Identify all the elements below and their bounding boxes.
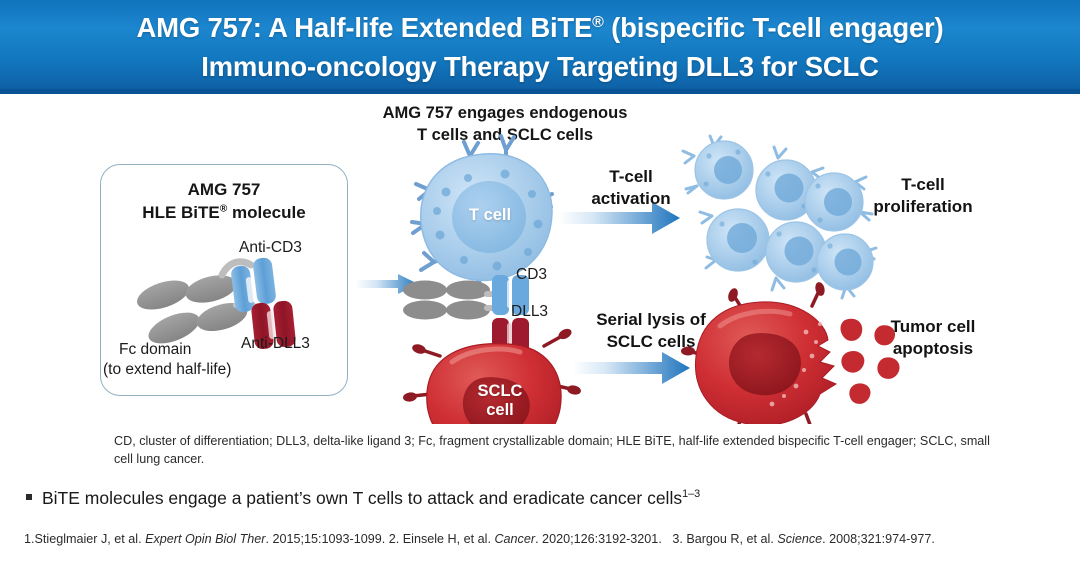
arrow-serial-lysis-icon — [573, 352, 690, 384]
label-anti-cd3: Anti-CD3 — [239, 239, 302, 257]
abbreviations-footnote: CD, cluster of differentiation; DLL3, de… — [114, 432, 994, 469]
sclc-cell-label: SCLC cell — [460, 382, 540, 421]
reference-3-journal: Science — [777, 532, 822, 546]
bullet-marker-icon — [26, 494, 32, 500]
label-tumor-apoptosis-line1: Tumor cell — [838, 316, 1028, 338]
reference-2-journal: Cancer — [494, 532, 535, 546]
reference-2-author: 2. Einsele H, et al. — [389, 532, 495, 546]
slide-title-line-1: AMG 757: A Half-life Extended BiTE® (bis… — [136, 8, 943, 47]
label-serial-lysis-line1: Serial lysis of — [556, 309, 746, 331]
key-takeaway-bullet-text: BiTE molecules engage a patient’s own T … — [42, 487, 700, 510]
label-t-cell-activation-line2: activation — [561, 188, 701, 210]
label-t-cell-activation-line1: T-cell — [561, 166, 701, 188]
title-line1-post: (bispecific T-cell engager) — [604, 12, 944, 43]
reference-1-author: 1.Stieglmaier J, et al. — [24, 532, 145, 546]
reference-2-detail: . 2020;126:3192-3201. — [535, 532, 672, 546]
label-t-cell-activation: T-cell activation — [561, 166, 701, 210]
label-tumor-apoptosis: Tumor cell apoptosis — [838, 316, 1028, 360]
reference-3-detail: . 2008;321:974-977. — [822, 532, 935, 546]
label-fc-domain-sub: (to extend half-life) — [103, 361, 231, 379]
label-t-cell-proliferation-line1: T-cell — [828, 174, 1018, 196]
engage-headline-line2: T cells and SCLC cells — [330, 124, 680, 146]
key-takeaway-bullet-row: BiTE molecules engage a patient’s own T … — [26, 487, 1056, 510]
slide-title-line-2: Immuno-oncology Therapy Targeting DLL3 f… — [201, 47, 879, 86]
reference-1-detail: . 2015;15:1093-1099. — [266, 532, 389, 546]
sclc-cell-label-line1: SCLC — [460, 382, 540, 401]
arrow-box-to-cells-icon — [356, 273, 418, 295]
label-cd3-receptor: CD3 — [516, 266, 547, 284]
references-line: 1.Stieglmaier J, et al. Expert Opin Biol… — [24, 531, 1064, 549]
figure-diagram: AMG 757 HLE BiTE® molecule — [0, 94, 1080, 424]
sclc-cell-label-line2: cell — [460, 401, 540, 420]
title-line1-pre: AMG 757: A Half-life Extended BiTE — [136, 12, 592, 43]
bullet-text-main: BiTE molecules engage a patient’s own T … — [42, 488, 682, 508]
label-serial-lysis: Serial lysis of SCLC cells — [556, 309, 746, 353]
slide-title-banner: AMG 757: A Half-life Extended BiTE® (bis… — [0, 0, 1080, 94]
bullet-citation-superscript: 1–3 — [682, 488, 700, 500]
slide-root: AMG 757: A Half-life Extended BiTE® (bis… — [0, 0, 1080, 563]
molecule-callout-box: AMG 757 HLE BiTE® molecule — [100, 164, 348, 396]
label-fc-domain: Fc domain — [119, 341, 191, 359]
label-dll3-receptor: DLL3 — [511, 303, 548, 321]
label-tumor-apoptosis-line2: apoptosis — [838, 338, 1028, 360]
reference-3-author: 3. Bargou R, et al. — [672, 532, 777, 546]
label-anti-dll3: Anti-DLL3 — [241, 335, 310, 353]
engage-headline-line1: AMG 757 engages endogenous — [330, 102, 680, 124]
label-serial-lysis-line2: SCLC cells — [556, 331, 746, 353]
t-cell-label: T cell — [455, 206, 525, 225]
registered-mark-icon: ® — [592, 14, 604, 31]
reference-1-journal: Expert Opin Biol Ther — [145, 532, 265, 546]
engage-headline: AMG 757 engages endogenous T cells and S… — [330, 102, 680, 147]
label-t-cell-proliferation: T-cell proliferation — [828, 174, 1018, 218]
label-t-cell-proliferation-line2: proliferation — [828, 196, 1018, 218]
